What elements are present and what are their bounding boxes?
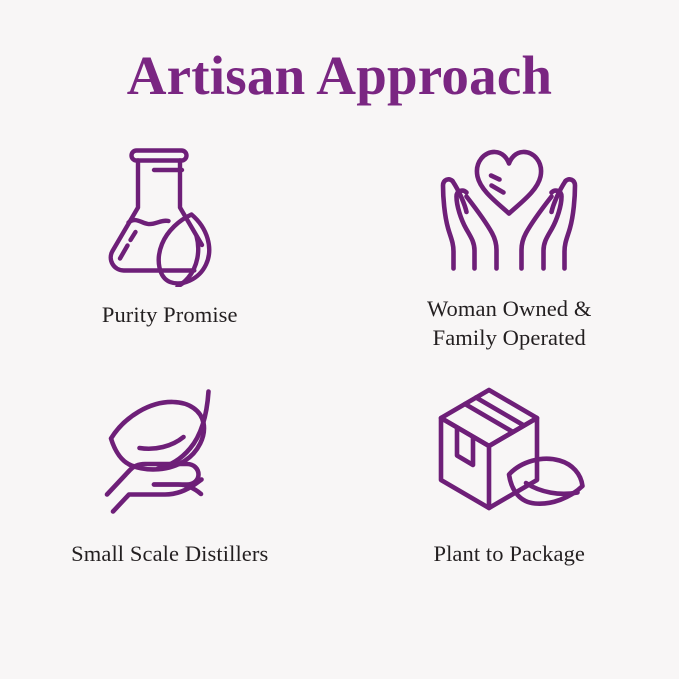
feature-grid: Purity Promise: [0, 139, 679, 625]
feature-item-woman-owned: Woman Owned & Family Operated: [340, 139, 679, 382]
feature-item-plant-to-package: Plant to Package: [340, 382, 679, 625]
artisan-approach-panel: Artisan Approach: [0, 0, 679, 679]
box-leaf-icon: [429, 382, 589, 522]
feature-label: Small Scale Distillers: [71, 540, 268, 569]
hands-holding-heart-icon: [429, 139, 589, 281]
feature-label: Woman Owned & Family Operated: [427, 295, 591, 353]
feature-label: Purity Promise: [102, 301, 238, 330]
feature-label: Plant to Package: [433, 540, 585, 569]
feature-item-purity-promise: Purity Promise: [0, 139, 340, 382]
flask-leaf-icon: [102, 139, 238, 287]
feature-item-small-scale-distillers: Small Scale Distillers: [0, 382, 340, 625]
page-title: Artisan Approach: [127, 0, 552, 105]
hand-holding-leaf-icon: [95, 382, 245, 522]
